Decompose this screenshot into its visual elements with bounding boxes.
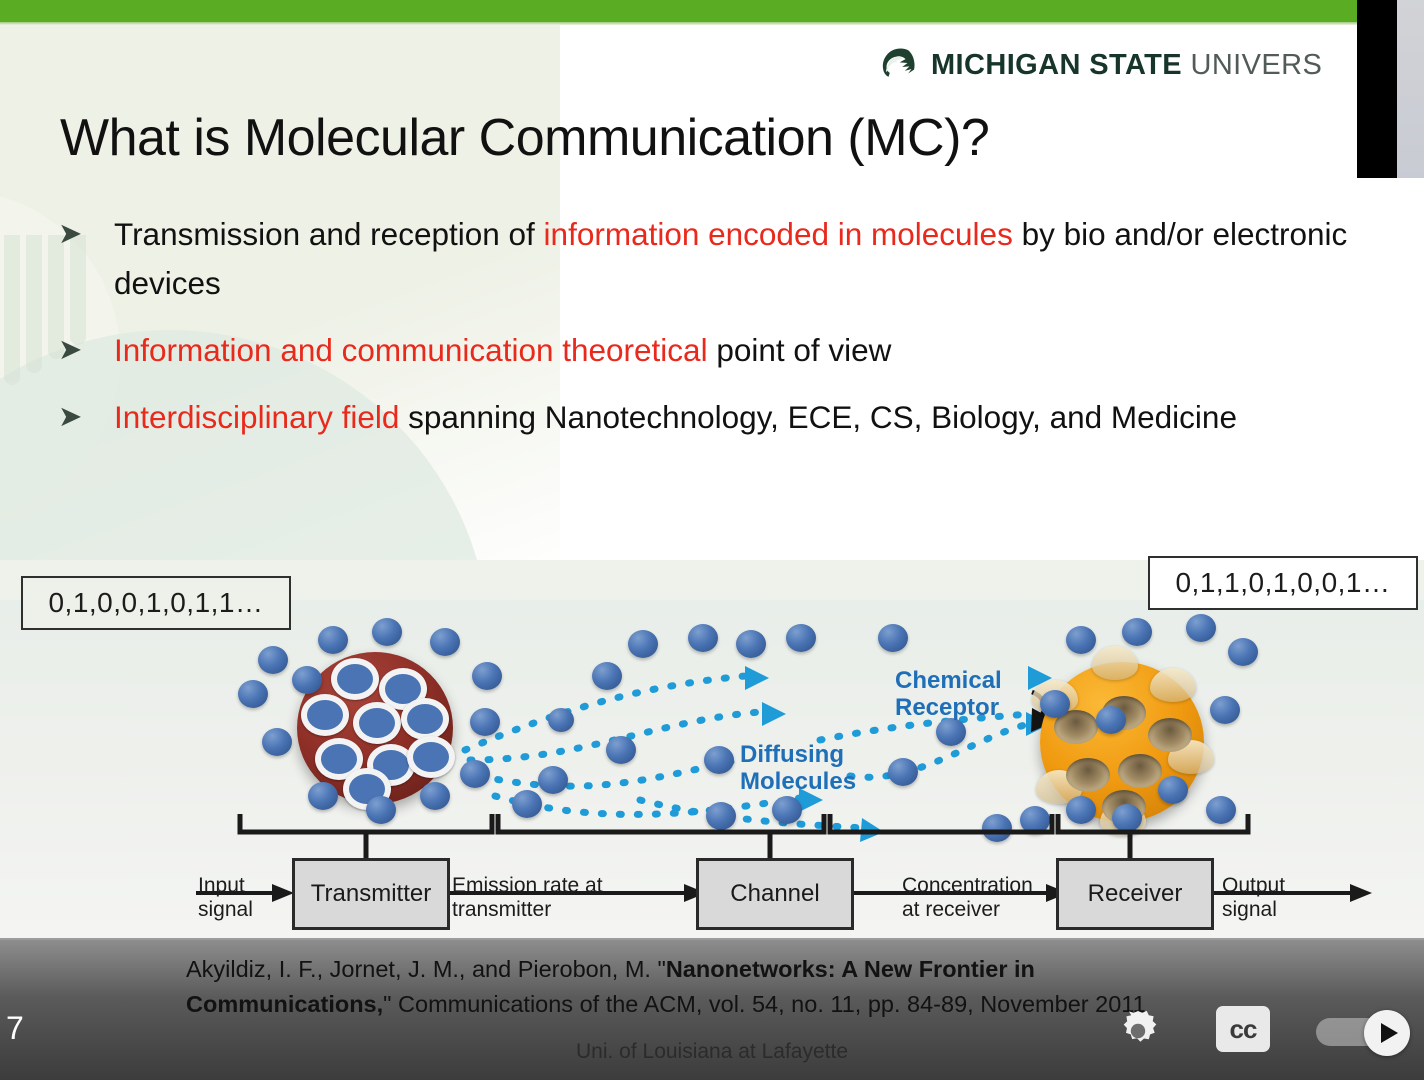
citation-prefix: Akyildiz, I. F., Jornet, J. M., and Pier…: [186, 956, 666, 982]
block-channel: Channel: [696, 858, 854, 930]
bullet-item: ➤ Interdisciplinary field spanning Nanot…: [58, 393, 1398, 442]
label-line-2: signal: [198, 898, 253, 921]
msu-logo: MICHIGAN STATE UNIVERS: [876, 44, 1322, 86]
bullet-item: ➤ Transmission and reception of informat…: [58, 210, 1398, 308]
citation-suffix: " Communications of the ACM, vol. 54, no…: [383, 991, 1146, 1017]
gear-icon[interactable]: [1112, 1005, 1164, 1057]
slide-title: What is Molecular Communication (MC)?: [60, 108, 989, 168]
slide-citation: Akyildiz, I. F., Jornet, J. M., and Pier…: [186, 952, 1196, 1023]
block-receiver: Receiver: [1056, 858, 1214, 930]
msu-wordmark-bold: MICHIGAN STATE: [931, 49, 1182, 81]
block-diagram: Transmitter Channel Receiver Input signa…: [0, 600, 1424, 940]
slide-footer: Uni. of Louisiana at Lafayette: [0, 1040, 1424, 1064]
presentation-slide: MICHIGAN STATE UNIVERS What is Molecular…: [0, 0, 1424, 940]
label-emission-rate: Emission rate at transmitter: [452, 874, 603, 922]
label-output-signal: Output signal: [1222, 874, 1285, 922]
output-bit-sequence-box: 0,1,1,0,1,0,0,1…: [1148, 556, 1418, 610]
slide-bullet-list: ➤ Transmission and reception of informat…: [58, 210, 1398, 461]
label-concentration: Concentration at receiver: [902, 874, 1033, 922]
bullet-marker-icon: ➤: [58, 393, 114, 434]
bullet-marker-icon: ➤: [58, 326, 114, 367]
bullet-text-highlight: information encoded in molecules: [544, 216, 1013, 252]
molecular-communication-figure: Diffusing Molecules Chemical Receptor: [0, 600, 1424, 940]
msu-wordmark: MICHIGAN STATE UNIVERS: [931, 49, 1322, 82]
label-line-1: Concentration: [902, 874, 1033, 897]
label-input-signal: Input signal: [198, 874, 253, 922]
bullet-text: Interdisciplinary field spanning Nanotec…: [114, 393, 1237, 442]
label-line-1: Emission rate at: [452, 874, 603, 897]
bullet-text-highlight: Interdisciplinary field: [114, 399, 399, 435]
bullet-text-part: point of view: [708, 332, 892, 368]
label-line-1: Output: [1222, 874, 1285, 897]
play-toggle[interactable]: [1316, 1010, 1410, 1054]
bullet-text: Transmission and reception of informatio…: [114, 210, 1398, 308]
video-letterbox-strip: [1357, 0, 1397, 178]
bullet-text-highlight: Information and communication theoretica…: [114, 332, 708, 368]
label-line-1: Input: [198, 874, 245, 897]
label-line-2: transmitter: [452, 898, 551, 921]
input-bit-sequence-box: 0,1,0,0,1,0,1,1…: [21, 576, 291, 630]
bullet-text: Information and communication theoretica…: [114, 326, 891, 375]
video-letterbox-edge: [1397, 0, 1424, 178]
msu-wordmark-light: UNIVERS: [1190, 49, 1322, 81]
bullet-text-part: spanning Nanotechnology, ECE, CS, Biolog…: [399, 399, 1237, 435]
bullet-item: ➤ Information and communication theoreti…: [58, 326, 1398, 375]
label-line-2: at receiver: [902, 898, 1000, 921]
bullet-marker-icon: ➤: [58, 210, 114, 251]
play-icon[interactable]: [1364, 1010, 1410, 1056]
block-transmitter: Transmitter: [292, 858, 450, 930]
brand-green-bar: [0, 0, 1424, 22]
bullet-text-part: Transmission and reception of: [114, 216, 544, 252]
video-player-stage: MICHIGAN STATE UNIVERS What is Molecular…: [0, 0, 1424, 1080]
closed-captions-button[interactable]: cc: [1216, 1006, 1270, 1052]
label-line-2: signal: [1222, 898, 1277, 921]
spartan-helmet-icon: [876, 44, 918, 86]
brand-green-bar-shadow: [0, 22, 1424, 25]
